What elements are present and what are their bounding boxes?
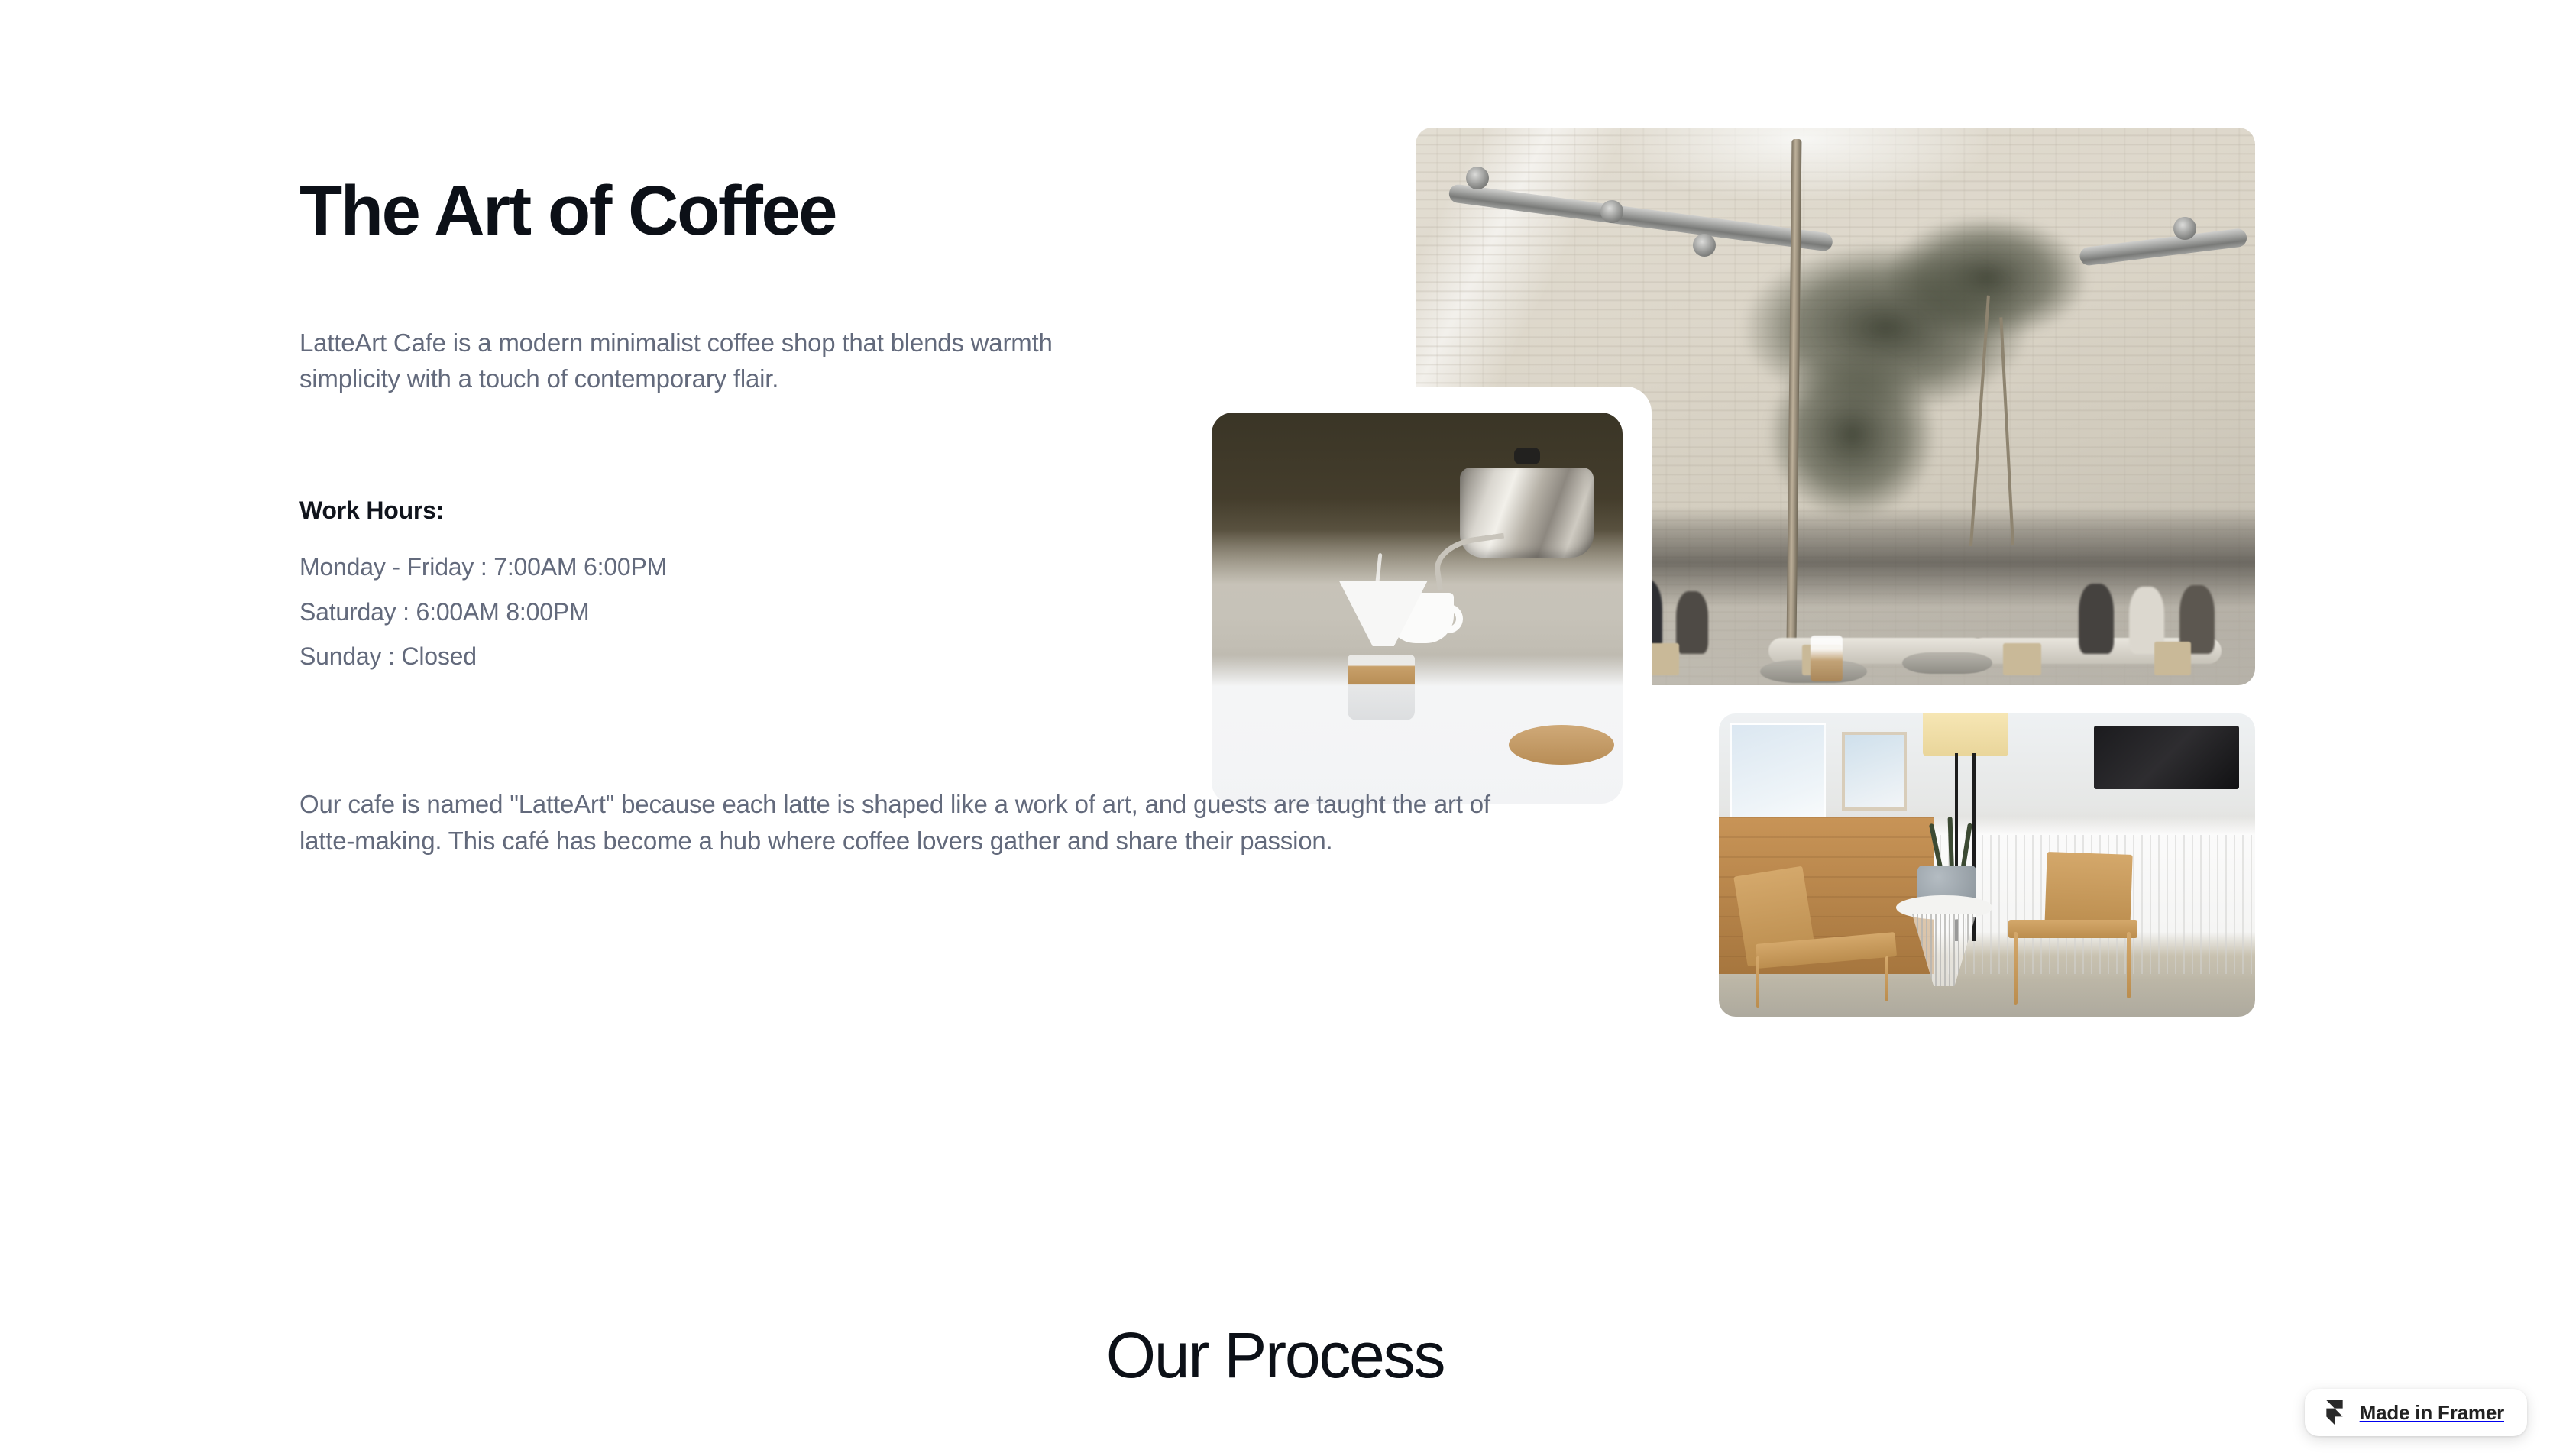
about-text-column: The Art of Coffee LatteArt Cafe is a mod…	[299, 176, 1537, 859]
iced-coffee-glass	[1811, 636, 1843, 681]
stool-5	[2154, 642, 2191, 675]
duct-vent-4	[2173, 217, 2196, 240]
about-page: The Art of Coffee LatteArt Cafe is a mod…	[0, 0, 2550, 1456]
lounge-chairs-image	[1719, 713, 2255, 1017]
framer-logo-icon	[2325, 1400, 2345, 1425]
made-in-framer-label: Made in Framer	[2360, 1401, 2504, 1425]
page-title: The Art of Coffee	[299, 176, 1537, 246]
story-paragraph: Our cafe is named "LatteArt" because eac…	[299, 786, 1537, 859]
duct-vent-3	[1693, 234, 1716, 257]
dark-canvas-artwork	[2094, 726, 2239, 789]
process-section-title: Our Process	[0, 1323, 2550, 1387]
floor-lamp-shade	[1923, 713, 2008, 756]
duct-pipe-right	[2079, 228, 2247, 267]
work-hours-block: Work Hours: Monday - Friday : 7:00AM 6:0…	[299, 497, 1537, 680]
left-chair-leg-back	[1885, 956, 1888, 1002]
work-hours-saturday: Saturday : 6:00AM 8:00PM	[299, 590, 1537, 635]
left-chair-leg-front	[1756, 956, 1759, 1008]
work-hours-sunday: Sunday : Closed	[299, 634, 1537, 679]
right-chair-leg-back	[2127, 932, 2131, 998]
made-in-framer-badge[interactable]: Made in Framer	[2305, 1389, 2527, 1436]
intro-paragraph: LatteArt Cafe is a modern minimalist cof…	[299, 325, 1079, 397]
right-chair-seat	[2008, 920, 2137, 938]
table-3	[1902, 652, 1992, 674]
stool-4	[2003, 643, 2041, 675]
guest-5	[2079, 584, 2114, 654]
work-hours-title: Work Hours:	[299, 497, 1537, 525]
right-chair-back	[2045, 852, 2134, 930]
right-chair-leg-front	[2014, 932, 2018, 1005]
snake-plant-leaf-2	[1947, 817, 1953, 872]
framed-artwork	[1842, 732, 1906, 811]
work-hours-weekday: Monday - Friday : 7:00AM 6:00PM	[299, 545, 1537, 590]
guest-4	[1676, 591, 1708, 654]
duct-vent-2	[1600, 200, 1623, 223]
